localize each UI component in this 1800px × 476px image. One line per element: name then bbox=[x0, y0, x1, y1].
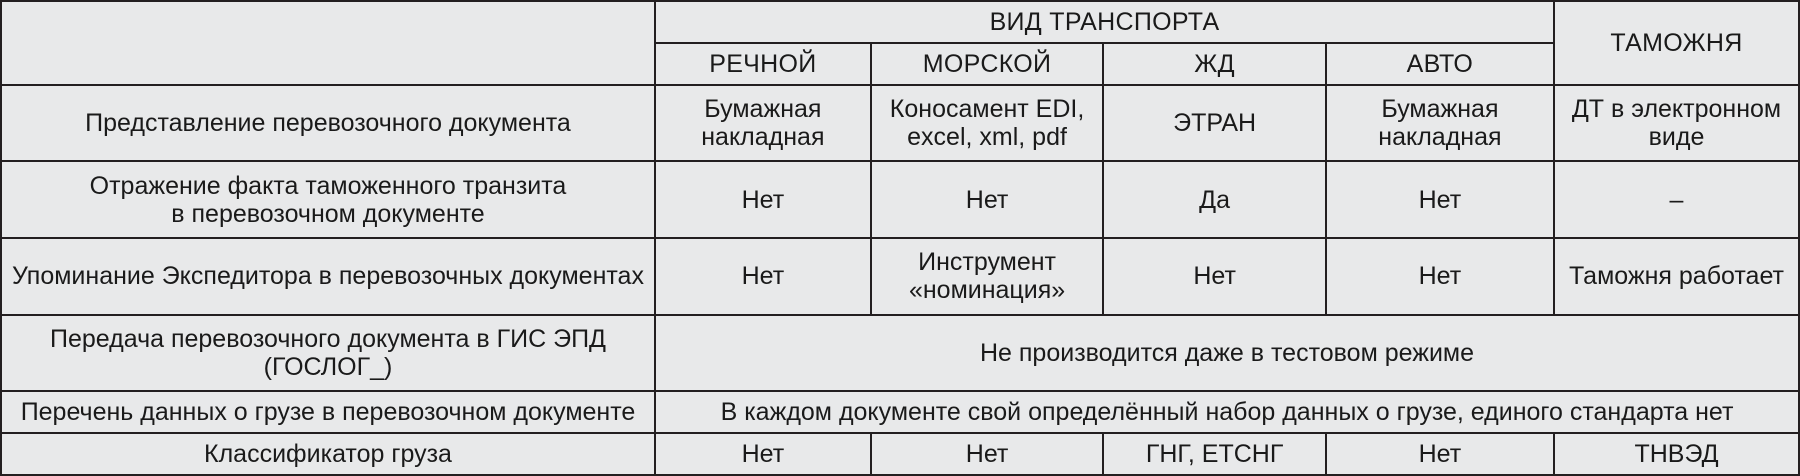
row-label-line: Представление перевозочного документа bbox=[8, 109, 648, 137]
row-label: Упоминание Экспедитора в перевозочных до… bbox=[1, 238, 655, 315]
header-col-rail: ЖД bbox=[1103, 43, 1325, 85]
row-cell-rail: ЭТРАН bbox=[1103, 85, 1325, 162]
row-label-line: Классификатор груза bbox=[8, 440, 648, 468]
row-cell-river: Нет bbox=[655, 238, 871, 315]
row-cell-merged: В каждом документе свой определённый наб… bbox=[655, 391, 1799, 433]
table-row: Перечень данных о грузе в перевозочном д… bbox=[1, 391, 1799, 433]
row-cell-sea: Инструмент «номинация» bbox=[871, 238, 1104, 315]
row-cell-rail: Да bbox=[1103, 161, 1325, 238]
row-label: Перечень данных о грузе в перевозочном д… bbox=[1, 391, 655, 433]
row-label: Представление перевозочного документа bbox=[1, 85, 655, 162]
row-label-line: Передача перевозочного документа в ГИС Э… bbox=[8, 325, 648, 353]
row-cell-sea: Нет bbox=[871, 161, 1104, 238]
row-label: Передача перевозочного документа в ГИС Э… bbox=[1, 315, 655, 392]
row-cell-customs: ТНВЭД bbox=[1554, 433, 1799, 475]
comparison-table-sheet: ВИД ТРАНСПОРТА ТАМОЖНЯ РЕЧНОЙ МОРСКОЙ ЖД… bbox=[0, 0, 1800, 476]
header-col-auto: АВТО bbox=[1326, 43, 1554, 85]
row-cell-river: Нет bbox=[655, 433, 871, 475]
row-cell-river: Нет bbox=[655, 161, 871, 238]
table-row: Передача перевозочного документа в ГИС Э… bbox=[1, 315, 1799, 392]
row-label-line: Упоминание Экспедитора в перевозочных до… bbox=[8, 262, 648, 290]
table-row: Классификатор груза Нет Нет ГНГ, ЕТСНГ Н… bbox=[1, 433, 1799, 475]
row-cell-customs: ДТ в электронном виде bbox=[1554, 85, 1799, 162]
header-col-river: РЕЧНОЙ bbox=[655, 43, 871, 85]
row-label-line: Отражение факта таможенного транзита bbox=[8, 172, 648, 200]
table-row: Упоминание Экспедитора в перевозочных до… bbox=[1, 238, 1799, 315]
row-cell-sea: Коносамент EDI, excel, xml, pdf bbox=[871, 85, 1104, 162]
row-label: Классификатор груза bbox=[1, 433, 655, 475]
row-label-line: Перечень данных о грузе в перевозочном д… bbox=[8, 398, 648, 426]
header-customs: ТАМОЖНЯ bbox=[1554, 1, 1799, 85]
row-cell-auto: Бумажная накладная bbox=[1326, 85, 1554, 162]
row-cell-merged: Не производится даже в тестовом режиме bbox=[655, 315, 1799, 392]
header-corner-cell bbox=[1, 1, 655, 85]
row-cell-rail: ГНГ, ЕТСНГ bbox=[1103, 433, 1325, 475]
row-label-line: в перевозочном документе bbox=[8, 200, 648, 228]
row-cell-rail: Нет bbox=[1103, 238, 1325, 315]
table-row: Отражение факта таможенного транзита в п… bbox=[1, 161, 1799, 238]
row-cell-customs: – bbox=[1554, 161, 1799, 238]
table-row: Представление перевозочного документа Бу… bbox=[1, 85, 1799, 162]
header-col-sea: МОРСКОЙ bbox=[871, 43, 1104, 85]
row-cell-auto: Нет bbox=[1326, 433, 1554, 475]
row-cell-river: Бумажная накладная bbox=[655, 85, 871, 162]
row-cell-auto: Нет bbox=[1326, 161, 1554, 238]
row-label-line: (ГОСЛОГ_) bbox=[8, 353, 648, 381]
row-cell-customs: Таможня работает bbox=[1554, 238, 1799, 315]
transport-comparison-table: ВИД ТРАНСПОРТА ТАМОЖНЯ РЕЧНОЙ МОРСКОЙ ЖД… bbox=[0, 0, 1800, 476]
row-label: Отражение факта таможенного транзита в п… bbox=[1, 161, 655, 238]
row-cell-auto: Нет bbox=[1326, 238, 1554, 315]
header-transport-group: ВИД ТРАНСПОРТА bbox=[655, 1, 1554, 43]
row-cell-sea: Нет bbox=[871, 433, 1104, 475]
header-row-group: ВИД ТРАНСПОРТА ТАМОЖНЯ bbox=[1, 1, 1799, 43]
